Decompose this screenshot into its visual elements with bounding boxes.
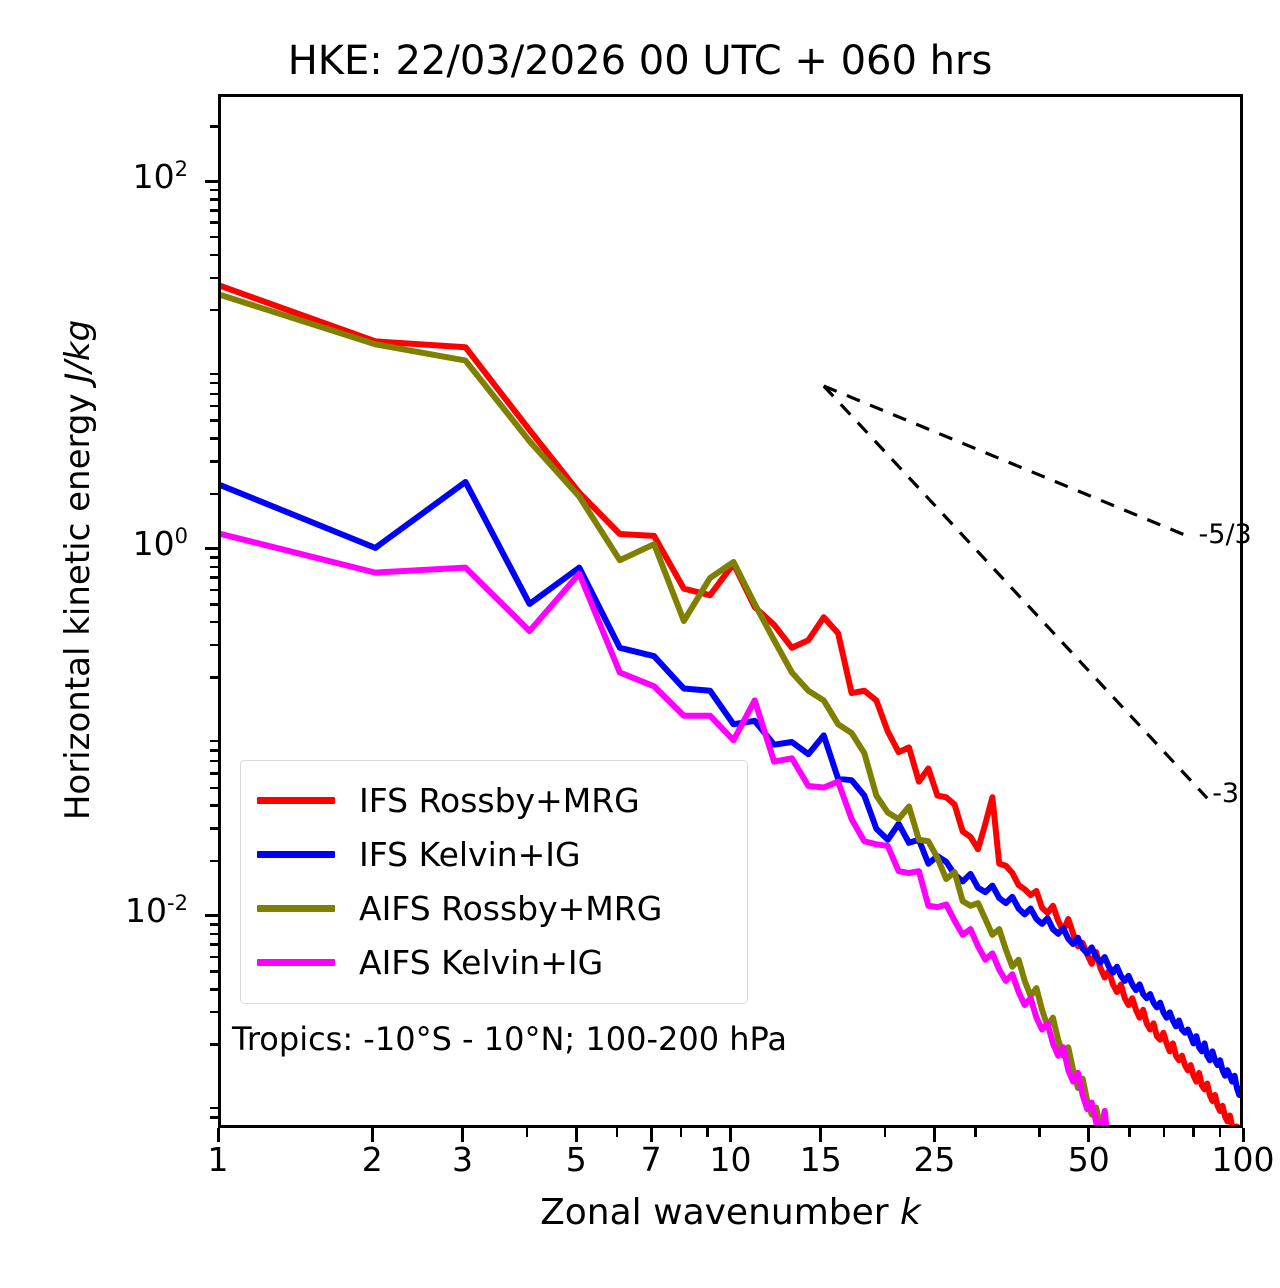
x-major-tick-1 — [371, 1128, 374, 1142]
y-axis-label-unit: J/kg — [58, 320, 98, 383]
chart-figure: HKE: 22/03/2026 00 UTC + 060 hrs Horizon… — [0, 0, 1280, 1288]
y-minor-tick — [210, 393, 219, 396]
x-tick-label-4: 7 — [641, 1140, 662, 1179]
y-minor-tick — [210, 1043, 219, 1046]
x-major-tick-5 — [729, 1128, 732, 1142]
chart-title: HKE: 22/03/2026 00 UTC + 060 hrs — [0, 38, 1280, 84]
y-minor-tick — [210, 221, 219, 224]
y-minor-tick — [210, 209, 219, 212]
legend-swatch-0 — [257, 797, 335, 804]
y-minor-tick — [210, 988, 219, 991]
y-minor-tick — [210, 804, 219, 807]
legend-swatch-2 — [257, 905, 335, 912]
y-minor-tick — [210, 189, 219, 192]
y-minor-tick — [210, 860, 219, 863]
legend-label-1: IFS Kelvin+IG — [359, 835, 581, 874]
y-minor-tick — [210, 576, 219, 579]
y-minor-tick — [210, 589, 219, 592]
y-major-tick-2 — [205, 914, 219, 917]
x-major-tick-6 — [819, 1128, 822, 1142]
y-major-tick-0 — [205, 180, 219, 183]
y-minor-tick — [210, 970, 219, 973]
y-minor-tick — [210, 419, 219, 422]
x-minor-tick — [616, 1128, 619, 1137]
x-tick-label-0: 1 — [208, 1140, 229, 1179]
x-tick-label-2: 3 — [452, 1140, 473, 1179]
x-major-tick-9 — [1242, 1128, 1245, 1142]
y-minor-tick — [210, 676, 219, 679]
y-tick-label-1: 100 — [133, 526, 188, 560]
slope-label-three: -3 — [1212, 778, 1239, 809]
y-minor-tick — [210, 460, 219, 463]
y-minor-tick — [210, 1107, 219, 1110]
y-minor-tick — [210, 827, 219, 830]
x-major-tick-4 — [650, 1128, 653, 1142]
y-minor-tick — [210, 760, 219, 763]
chart-legend: IFS Rossby+MRGIFS Kelvin+IGAIFS Rossby+M… — [240, 760, 748, 1004]
legend-swatch-3 — [257, 959, 335, 966]
x-major-tick-0 — [217, 1128, 220, 1142]
x-axis-label-symbol: k — [900, 1192, 921, 1233]
y-minor-tick — [210, 493, 219, 496]
y-minor-tick — [210, 277, 219, 280]
x-minor-tick — [526, 1128, 529, 1137]
y-minor-tick — [210, 437, 219, 440]
y-minor-tick — [210, 405, 219, 408]
y-minor-tick — [210, 382, 219, 385]
y-minor-tick — [210, 254, 219, 257]
x-minor-tick — [974, 1128, 977, 1137]
x-tick-label-8: 50 — [1068, 1140, 1110, 1179]
y-minor-tick — [210, 603, 219, 606]
y-minor-tick — [210, 566, 219, 569]
x-tick-label-3: 5 — [566, 1140, 587, 1179]
y-minor-tick — [210, 309, 219, 312]
y-minor-tick — [210, 621, 219, 624]
reference-slope-lines — [824, 386, 1207, 798]
y-minor-tick — [210, 933, 219, 936]
y-minor-tick — [210, 373, 219, 376]
y-minor-tick — [210, 1011, 219, 1014]
legend-item-2[interactable]: AIFS Rossby+MRG — [257, 881, 731, 935]
legend-item-0[interactable]: IFS Rossby+MRG — [257, 773, 731, 827]
x-minor-tick — [1192, 1128, 1195, 1137]
x-minor-tick — [1219, 1128, 1222, 1137]
legend-label-3: AIFS Kelvin+IG — [359, 943, 603, 982]
y-minor-tick — [210, 198, 219, 201]
y-minor-tick — [210, 1116, 219, 1119]
x-minor-tick — [680, 1128, 683, 1137]
legend-swatch-1 — [257, 851, 335, 858]
y-minor-tick — [210, 236, 219, 239]
x-major-tick-7 — [933, 1128, 936, 1142]
y-minor-tick — [210, 740, 219, 743]
y-minor-tick — [210, 125, 219, 128]
y-minor-tick — [210, 772, 219, 775]
y-major-tick-1 — [205, 547, 219, 550]
x-axis-label: Zonal wavenumber k — [218, 1192, 1243, 1233]
x-minor-tick — [1128, 1128, 1131, 1137]
x-tick-label-6: 15 — [800, 1140, 842, 1179]
y-minor-tick — [210, 556, 219, 559]
y-minor-tick — [210, 923, 219, 926]
x-tick-label-9: 100 — [1212, 1140, 1275, 1179]
legend-label-2: AIFS Rossby+MRG — [359, 889, 662, 928]
reference-line-0 — [824, 386, 1194, 539]
y-tick-label-2: 10-2 — [125, 893, 188, 927]
reference-line-1 — [824, 386, 1207, 798]
y-minor-tick — [210, 749, 219, 752]
legend-label-0: IFS Rossby+MRG — [359, 781, 640, 820]
y-axis-label-text: Horizontal kinetic energy — [58, 383, 98, 821]
x-tick-label-1: 2 — [362, 1140, 383, 1179]
legend-item-1[interactable]: IFS Kelvin+IG — [257, 827, 731, 881]
x-minor-tick — [1038, 1128, 1041, 1137]
x-tick-label-5: 10 — [710, 1140, 752, 1179]
legend-item-3[interactable]: AIFS Kelvin+IG — [257, 935, 731, 989]
x-major-tick-2 — [461, 1128, 464, 1142]
x-minor-tick — [1163, 1128, 1166, 1137]
region-annotation: Tropics: -10°S - 10°N; 100-200 hPa — [232, 1020, 787, 1058]
x-major-tick-3 — [575, 1128, 578, 1142]
y-minor-tick — [210, 956, 219, 959]
y-axis-label: Horizontal kinetic energy J/kg — [58, 220, 118, 920]
y-minor-tick — [210, 943, 219, 946]
y-tick-label-0: 102 — [133, 159, 188, 193]
y-minor-tick — [210, 787, 219, 790]
slope-label-five-thirds: -5/3 — [1199, 519, 1252, 550]
x-minor-tick — [706, 1128, 709, 1137]
y-minor-tick — [210, 644, 219, 647]
x-minor-tick — [884, 1128, 887, 1137]
x-tick-label-7: 25 — [913, 1140, 955, 1179]
x-axis-label-text: Zonal wavenumber — [540, 1192, 900, 1233]
x-major-tick-8 — [1087, 1128, 1090, 1142]
